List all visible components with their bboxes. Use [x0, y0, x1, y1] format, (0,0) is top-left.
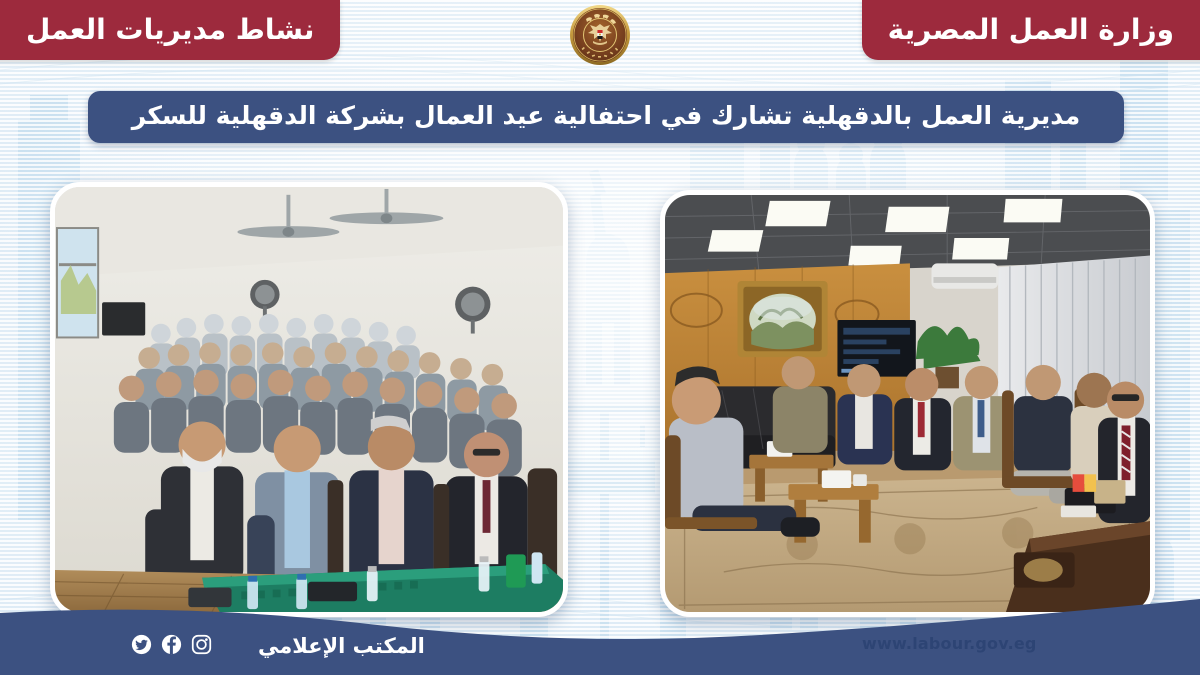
- ministry-badge: وزارة العمل المصرية: [862, 0, 1200, 60]
- website-url[interactable]: www.labour.gov.eg: [862, 634, 1037, 653]
- photo-auditorium-ceremony: [50, 182, 568, 617]
- instagram-icon[interactable]: [191, 634, 212, 655]
- media-office-label: المكتب الإعلامي: [258, 634, 425, 658]
- headline-banner: مديرية العمل بالدقهلية تشارك في احتفالية…: [88, 91, 1124, 143]
- facebook-icon[interactable]: [161, 634, 182, 655]
- photo-office-meeting: [660, 190, 1155, 617]
- social-links[interactable]: [131, 634, 212, 655]
- activity-badge-label: نشاط مديريات العمل: [26, 2, 314, 58]
- top-bar: نشاط مديريات العمل وزارة العمل المصرية: [0, 0, 1200, 72]
- headline-text: مديرية العمل بالدقهلية تشارك في احتفالية…: [132, 103, 1080, 131]
- activity-badge: نشاط مديريات العمل: [0, 0, 340, 60]
- ministry-badge-label: وزارة العمل المصرية: [888, 2, 1174, 58]
- news-card-canvas: نشاط مديريات العمل وزارة العمل المصرية: [0, 0, 1200, 675]
- twitter-icon[interactable]: [131, 634, 152, 655]
- ministry-of-labour-seal-icon: [566, 4, 634, 66]
